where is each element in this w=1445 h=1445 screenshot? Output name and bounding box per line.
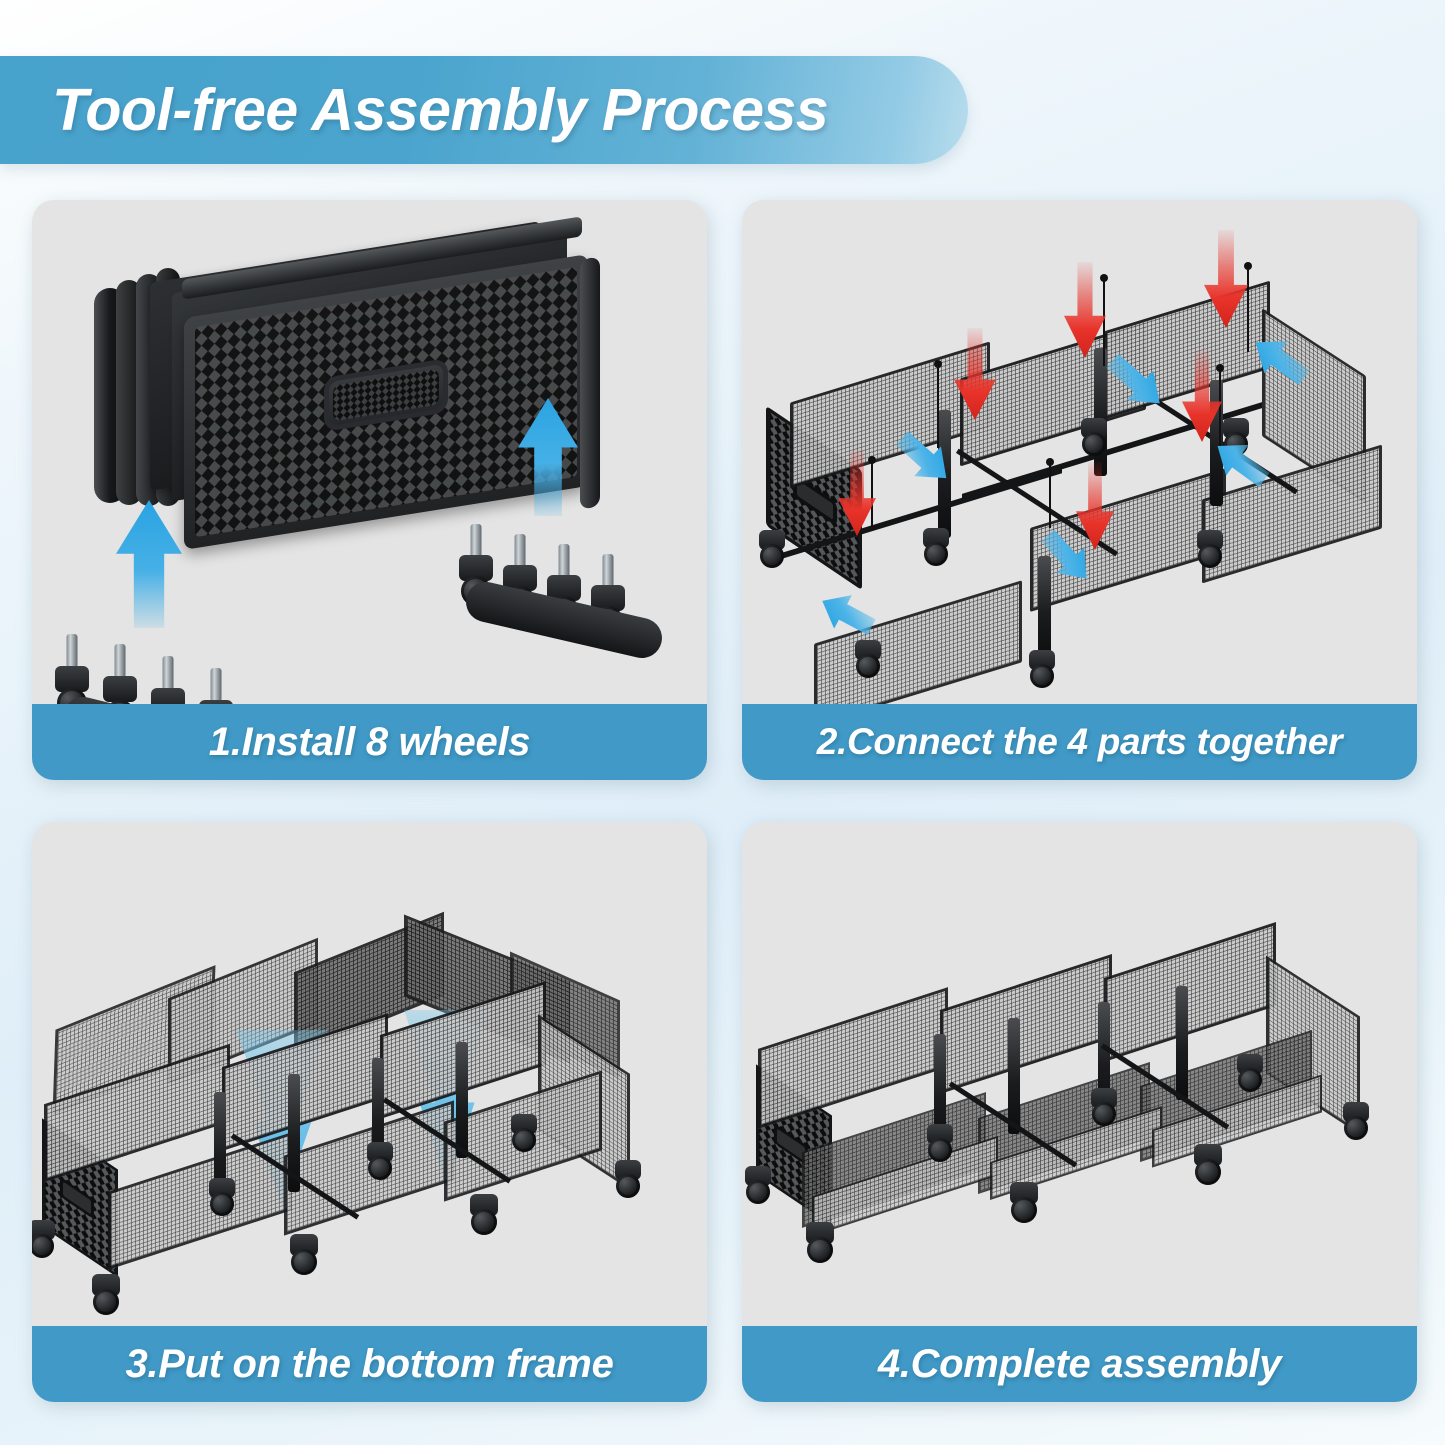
cart-back-panel	[758, 987, 948, 1129]
caster-group-right	[462, 500, 707, 660]
cart-post	[1176, 986, 1188, 1100]
step-3-caption-text: 3.Put on the bottom frame	[125, 1342, 613, 1387]
header-banner: Tool-free Assembly Process	[0, 56, 968, 164]
cart-back-panel	[940, 954, 1112, 1094]
step-1-illustration	[32, 200, 707, 704]
assembly-steps-grid: 1.Install 8 wheels	[32, 200, 1417, 1402]
step-4-illustration	[742, 822, 1417, 1326]
connector-post	[1094, 348, 1107, 476]
step-2-caption-text: 2.Connect the 4 parts together	[817, 721, 1343, 763]
page-title: Tool-free Assembly Process	[0, 76, 828, 144]
panel-handle-cutout	[324, 359, 448, 433]
step-4-caption-bar: 4.Complete assembly	[742, 1326, 1417, 1402]
step-card-1: 1.Install 8 wheels	[32, 200, 707, 780]
step-card-2: 2.Connect the 4 parts together	[742, 200, 1417, 780]
panel-right-post	[580, 256, 600, 509]
step-1-caption-bar: 1.Install 8 wheels	[32, 704, 707, 780]
cart-post	[1008, 1018, 1020, 1134]
step-3-illustration	[32, 822, 707, 1326]
step-card-4: 4.Complete assembly	[742, 822, 1417, 1402]
cart-back-panel	[1104, 922, 1276, 1062]
step-card-3: 3.Put on the bottom frame	[32, 822, 707, 1402]
step-1-caption-text: 1.Install 8 wheels	[209, 720, 530, 765]
caster-group-left	[60, 600, 330, 704]
step-4-caption-text: 4.Complete assembly	[878, 1342, 1281, 1387]
step-3-caption-bar: 3.Put on the bottom frame	[32, 1326, 707, 1402]
connector-post	[1038, 556, 1051, 660]
frame-post	[456, 1042, 468, 1158]
step-2-caption-bar: 2.Connect the 4 parts together	[742, 704, 1417, 780]
connector-post	[1210, 380, 1223, 506]
step-2-illustration	[742, 200, 1417, 704]
